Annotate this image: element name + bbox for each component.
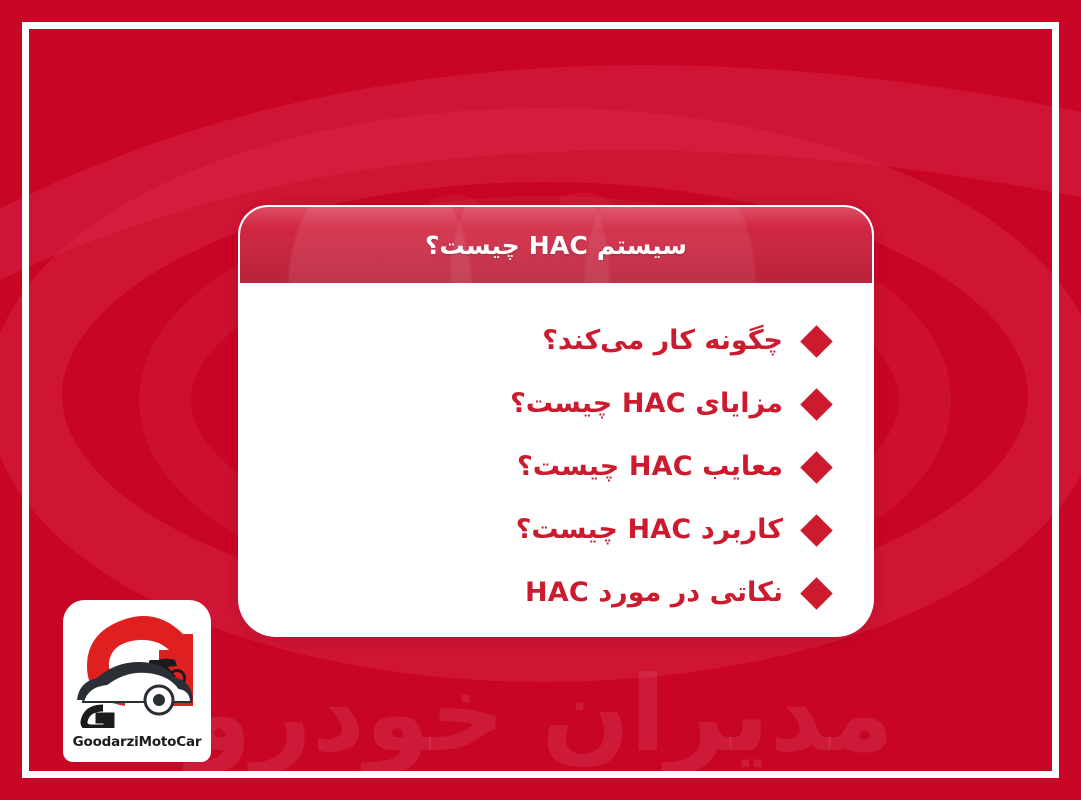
card-title: سیستم HAC چیست؟ [425,231,687,260]
list-item[interactable]: معایب HAC چیست؟ [284,435,828,498]
logo-brand-text: GoodarziMotoCar [63,734,211,750]
faq-list: چگونه کار می‌کند؟ مزایای HAC چیست؟ معایب… [284,309,828,624]
list-item-label: کاربرد HAC چیست؟ [516,514,783,545]
diamond-bullet-icon [800,514,833,547]
list-item-label: معایب HAC چیست؟ [517,451,783,482]
list-item-label: چگونه کار می‌کند؟ [542,325,783,356]
list-item[interactable]: کاربرد HAC چیست؟ [284,498,828,561]
diamond-bullet-icon [800,325,833,358]
logo-mark-icon [63,600,211,728]
diamond-bullet-icon [800,577,833,610]
list-item[interactable]: مزایای HAC چیست؟ [284,372,828,435]
card-header: سیستم HAC چیست؟ [240,207,872,283]
diamond-bullet-icon [800,451,833,484]
faq-card: سیستم HAC چیست؟ چگونه کار می‌کند؟ مزایای… [238,205,874,637]
list-item-label: نکاتی در مورد HAC [525,577,783,608]
brand-logo[interactable]: GoodarziMotoCar [63,600,211,762]
list-item[interactable]: چگونه کار می‌کند؟ [284,309,828,372]
card-body: چگونه کار می‌کند؟ مزایای HAC چیست؟ معایب… [240,283,872,637]
list-item-label: مزایای HAC چیست؟ [510,388,783,419]
list-item[interactable]: نکاتی در مورد HAC [284,561,828,624]
diamond-bullet-icon [800,388,833,421]
poster-canvas: مدیران خودرو سیستم HAC چیست؟ چگونه کار م… [0,0,1081,800]
